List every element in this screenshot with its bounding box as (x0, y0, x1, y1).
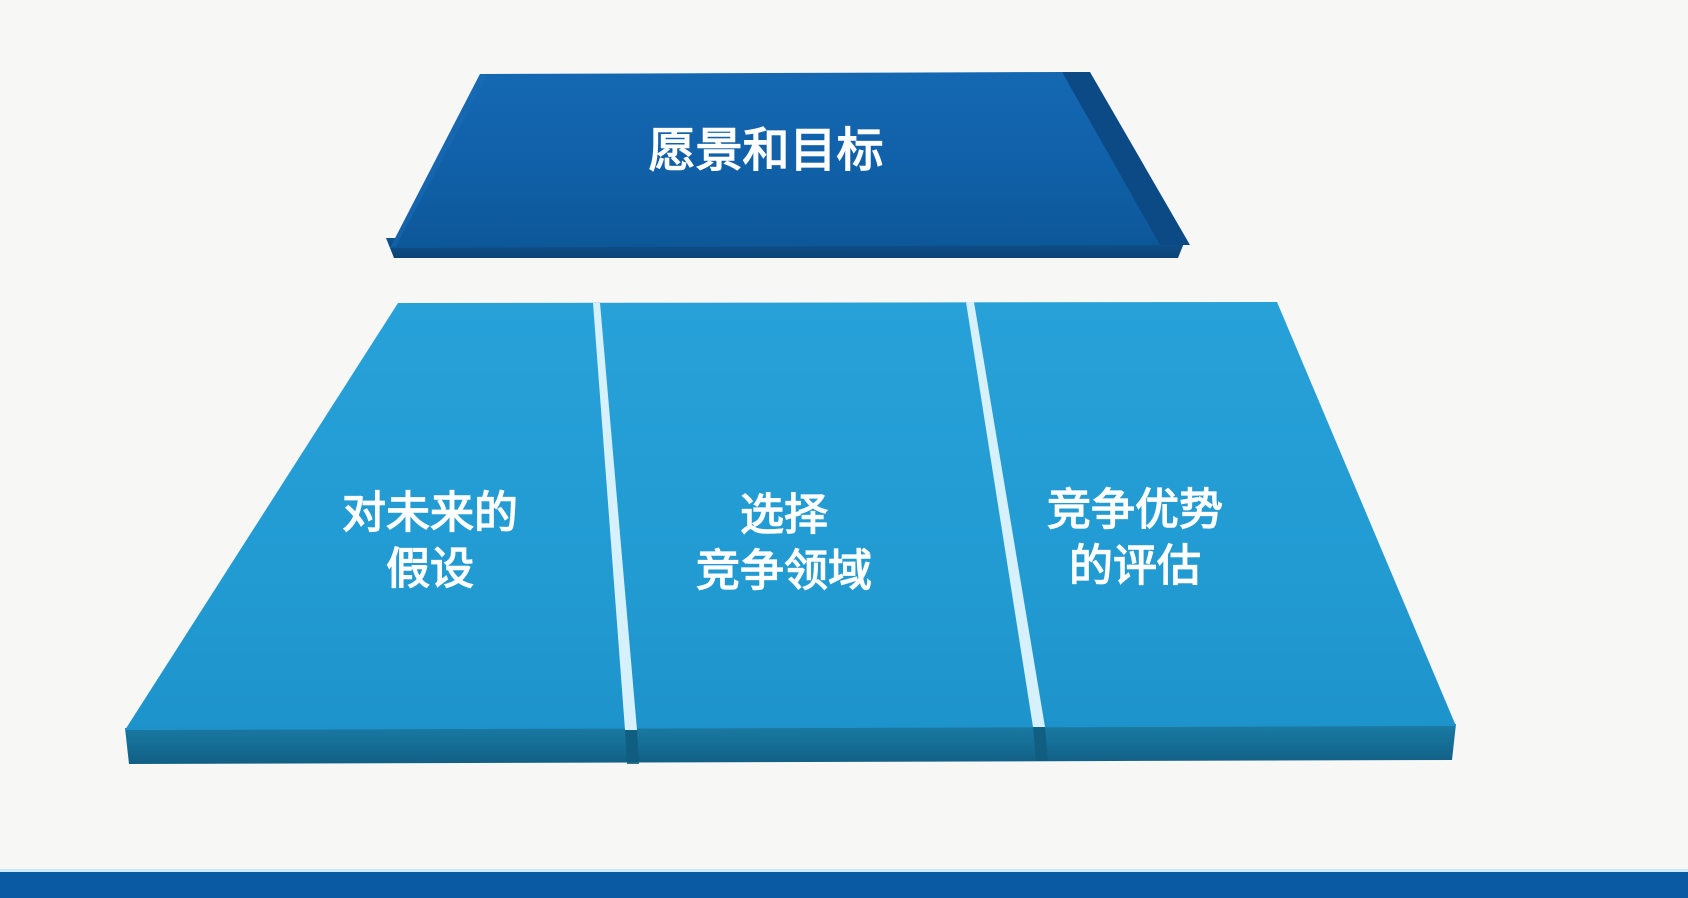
column-divider-1-strip (625, 730, 639, 764)
base-block-group[interactable]: 对未来的 假设 选择 竞争领域 竞争优势 的评估 (125, 302, 1456, 764)
strategy-pyramid-diagram: 愿景和目标 对未来的 假设 选择 竞争领域 (0, 0, 1688, 898)
top-block-group[interactable]: 愿景和目标 (386, 72, 1190, 258)
column-1-label-line1: 对未来的 (342, 489, 518, 538)
column-2-label-line2: 竞争领域 (696, 547, 872, 596)
column-1-label-line2: 假设 (386, 545, 474, 594)
column-2-label-line1: 选择 (740, 491, 829, 540)
footer-accent-bar (0, 872, 1688, 898)
base-block-bottom-strip (125, 724, 1456, 764)
column-3-label-line1: 竞争优势 (1047, 486, 1223, 535)
column-3-label-line2: 的评估 (1069, 542, 1201, 591)
top-block-label: 愿景和目标 (649, 123, 884, 176)
slide-canvas: 愿景和目标 对未来的 假设 选择 竞争领域 (0, 0, 1688, 898)
